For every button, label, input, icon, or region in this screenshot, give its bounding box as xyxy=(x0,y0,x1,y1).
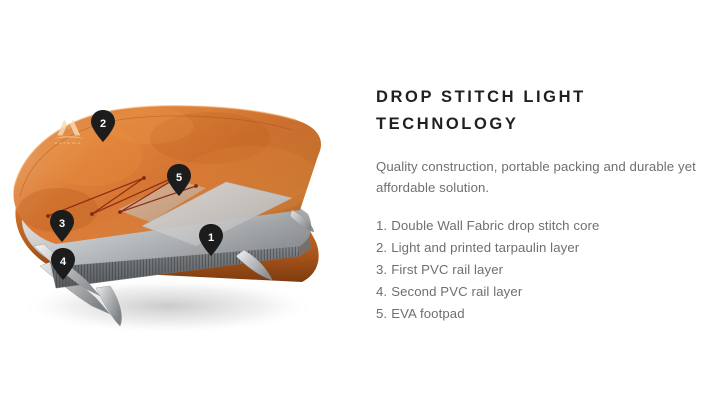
list-item-label: Double Wall Fabric drop stitch core xyxy=(391,215,599,237)
marker-4-label: 4 xyxy=(60,256,67,268)
page-title-line-2: TECHNOLOGY xyxy=(376,115,518,133)
feature-list: 1. Double Wall Fabric drop stitch core 2… xyxy=(376,215,708,325)
list-item-label: EVA footpad xyxy=(391,303,464,325)
marker-2-label: 2 xyxy=(100,118,106,130)
page-title: DROP STITCH LIGHT TECHNOLOGY xyxy=(376,84,708,137)
intro-paragraph: Quality construction, portable packing a… xyxy=(376,157,708,199)
marker-5-label: 5 xyxy=(176,172,182,184)
content-column: DROP STITCH LIGHT TECHNOLOGY Quality con… xyxy=(376,84,708,325)
list-item-label: Second PVC rail layer xyxy=(391,281,522,303)
list-item-number: 2. xyxy=(376,237,387,259)
list-item-number: 3. xyxy=(376,259,387,281)
list-item: 1. Double Wall Fabric drop stitch core xyxy=(376,215,708,237)
list-item: 5. EVA footpad xyxy=(376,303,708,325)
list-item-label: First PVC rail layer xyxy=(391,259,503,281)
paddleboard-illustration: 2 5 1 3 4 xyxy=(0,60,360,340)
list-item-label: Light and printed tarpaulin layer xyxy=(391,237,579,259)
list-item: 3. First PVC rail layer xyxy=(376,259,708,281)
list-item-number: 5. xyxy=(376,303,387,325)
marker-1-label: 1 xyxy=(208,232,214,244)
list-item-number: 4. xyxy=(376,281,387,303)
list-item: 4. Second PVC rail layer xyxy=(376,281,708,303)
page-title-line-1: DROP STITCH LIGHT xyxy=(376,88,586,106)
page-root: 2 5 1 3 4 DROP xyxy=(0,0,725,400)
list-item-number: 1. xyxy=(376,215,387,237)
list-item: 2. Light and printed tarpaulin layer xyxy=(376,237,708,259)
marker-3-label: 3 xyxy=(59,218,65,230)
